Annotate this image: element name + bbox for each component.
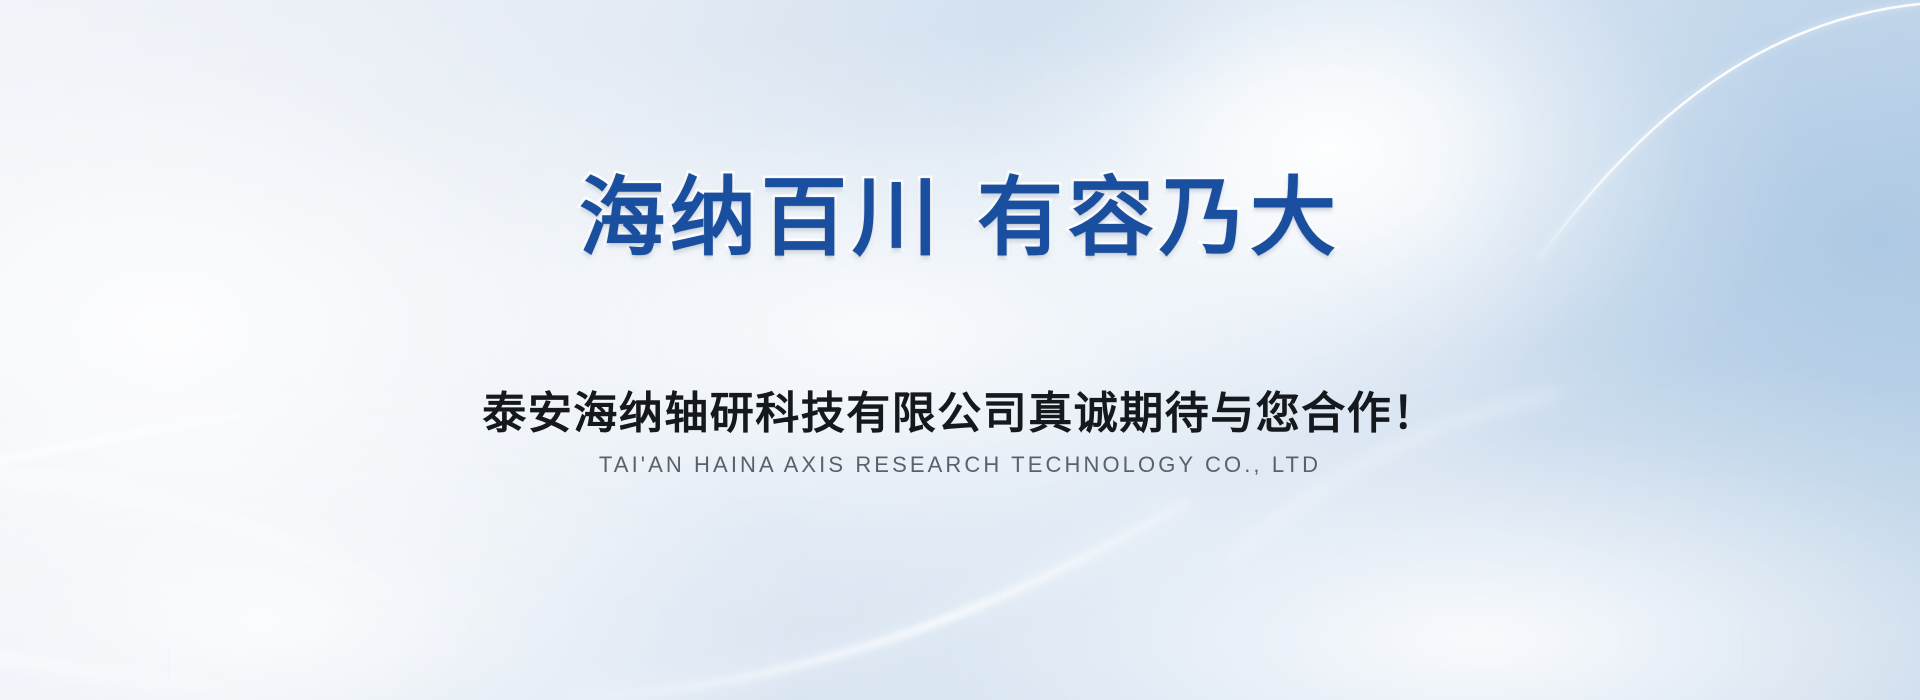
banner-subtitle-english: TAI'AN HAINA AXIS RESEARCH TECHNOLOGY CO… bbox=[0, 452, 1920, 478]
swoosh-bottom-center-glow bbox=[560, 500, 1190, 700]
background-glow-left bbox=[0, 0, 1920, 700]
background-blue-tint-top bbox=[0, 0, 1920, 700]
light-sliver-1 bbox=[1000, 560, 1001, 600]
banner-subtitle-chinese: 泰安海纳轴研科技有限公司真诚期待与您合作！ bbox=[0, 388, 1920, 441]
swoosh-bottom-left-3 bbox=[0, 650, 300, 700]
background-glow-bottom-left bbox=[0, 0, 1920, 700]
light-sliver-3 bbox=[168, 646, 169, 680]
light-sliver-2 bbox=[1742, 630, 1743, 672]
background-light-flare-icon bbox=[0, 0, 1920, 700]
banner-headline: 海纳百川有容乃大 bbox=[0, 168, 1920, 269]
swoosh-bottom-center bbox=[560, 500, 1190, 700]
swoosh-bottom-left-2 bbox=[0, 477, 470, 630]
background-glow-bottom-right bbox=[0, 0, 1920, 700]
decorative-curves bbox=[0, 0, 1920, 700]
background-blue-tint-right bbox=[0, 0, 1920, 700]
hero-banner: 海纳百川有容乃大 泰安海纳轴研科技有限公司真诚期待与您合作！ TAI'AN HA… bbox=[0, 0, 1920, 700]
background-glow-center bbox=[0, 0, 1920, 700]
headline-part-2: 有容乃大 bbox=[977, 170, 1341, 266]
headline-part-1: 海纳百川 bbox=[579, 170, 943, 266]
